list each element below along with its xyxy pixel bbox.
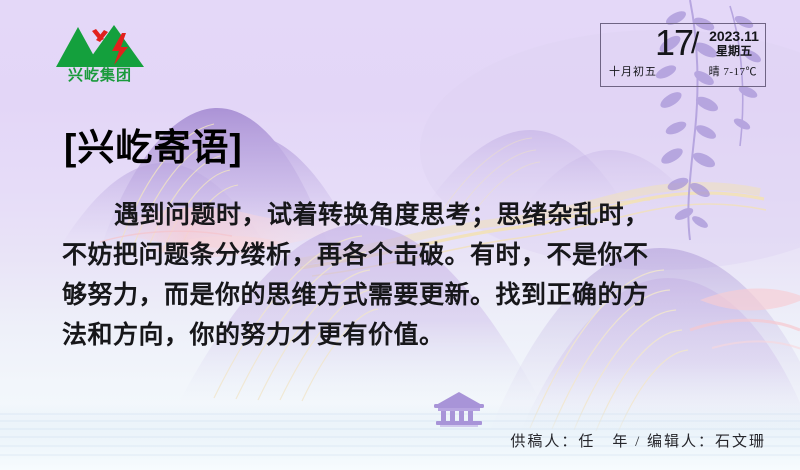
mountain-logo-icon	[52, 25, 148, 69]
date-card: 17 / 2023.11 星期五 十月初五 晴 7-17℃	[600, 23, 766, 87]
date-separator: /	[691, 26, 699, 62]
date-year-month: 2023.11	[705, 28, 763, 44]
page-title: [兴屹寄语]	[64, 126, 243, 170]
company-logo: 兴屹集团	[52, 25, 148, 91]
quote-line: 不妨把问题条分缕析，再各个击破。有时，不是你不	[62, 236, 752, 276]
daily-quote-poster: 兴屹集团 17 / 2023.11 星期五 十月初五 晴 7-17℃ [兴屹寄语…	[0, 0, 800, 470]
weather-info: 晴 7-17℃	[709, 65, 757, 79]
logo-wordmark: 兴屹集团	[52, 67, 148, 85]
quote-line: 遇到问题时，试着转换角度思考；思绪杂乱时，	[62, 196, 752, 236]
credit-line: 供稿人：任 年 / 编辑人：石文珊	[510, 432, 766, 452]
date-day: 17	[607, 24, 693, 62]
date-lunar: 十月初五	[609, 65, 657, 79]
date-weekday: 星期五	[705, 44, 763, 58]
quote-line: 够努力，而是你的思维方式需要更新。找到正确的方	[62, 276, 752, 316]
quote-body: 遇到问题时，试着转换角度思考；思绪杂乱时， 不妨把问题条分缕析，再各个击破。有时…	[62, 196, 752, 356]
pavilion-icon	[428, 392, 490, 430]
date-card-top-row: 17 / 2023.11 星期五	[601, 26, 767, 62]
quote-line: 法和方向，你的努力才更有价值。	[62, 316, 752, 356]
